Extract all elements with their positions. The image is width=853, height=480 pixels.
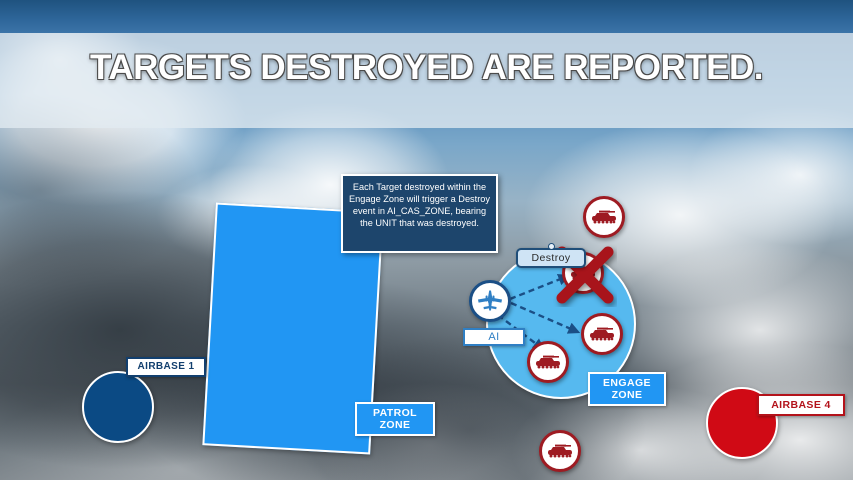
- page-title: TARGETS DESTROYED ARE REPORTED.: [0, 48, 853, 88]
- tank-unit-marker[interactable]: [527, 341, 569, 383]
- aircraft-unit-marker[interactable]: [469, 280, 511, 322]
- airbase-1-label: AIRBASE 1: [126, 357, 206, 377]
- airbase-4-label: AIRBASE 4: [757, 394, 845, 416]
- tank-icon: [591, 210, 617, 224]
- explanation-textbox: Each Target destroyed within the Engage …: [341, 174, 498, 253]
- destroy-event-label: Destroy: [516, 248, 586, 268]
- tank-unit-marker[interactable]: [539, 430, 581, 472]
- patrol-zone-label: PATROL ZONE: [355, 402, 435, 436]
- tank-unit-marker[interactable]: [581, 313, 623, 355]
- slide-canvas: TARGETS DESTROYED ARE REPORTED.: [0, 0, 853, 480]
- tank-icon: [535, 355, 561, 369]
- fighter-jet-icon: [476, 289, 504, 313]
- aircraft-unit-label: AI: [463, 328, 525, 346]
- tank-icon: [547, 444, 573, 458]
- airbase-1-marker: [82, 371, 154, 443]
- top-accent-band: [0, 0, 853, 33]
- tank-unit-marker[interactable]: [583, 196, 625, 238]
- tank-icon: [589, 327, 615, 341]
- engage-zone-label: ENGAGE ZONE: [588, 372, 666, 406]
- tank-icon: [570, 266, 596, 280]
